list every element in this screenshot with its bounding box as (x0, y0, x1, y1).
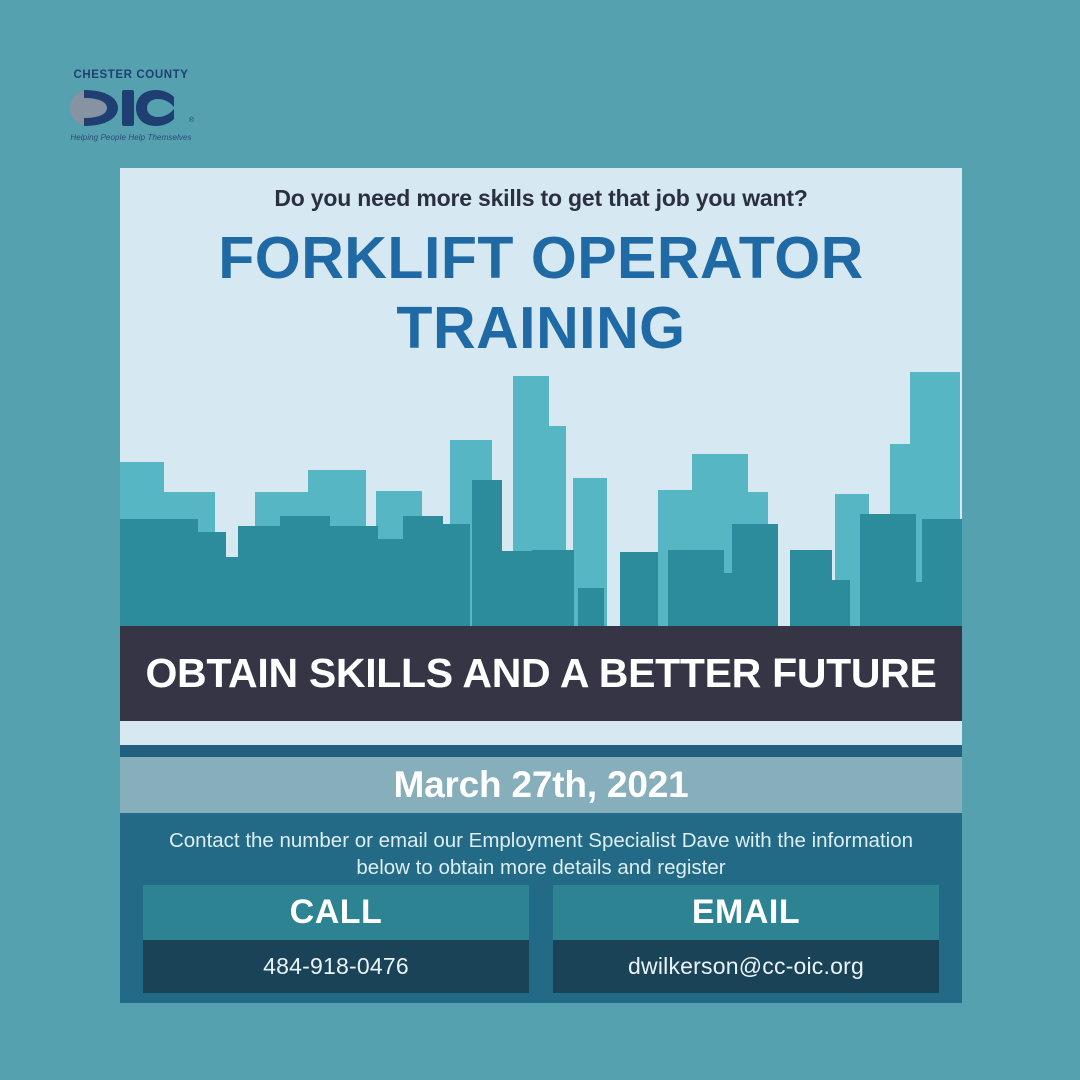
city-skyline-illustration (120, 364, 962, 626)
email-address[interactable]: dwilkerson@cc-oic.org (553, 940, 939, 993)
email-card-label: EMAIL (553, 885, 939, 940)
oic-logo: CHESTER COUNTY ® Helping People Help The… (66, 70, 196, 148)
banner-text: OBTAIN SKILLS AND A BETTER FUTURE (120, 626, 962, 721)
call-card[interactable]: CALL 484-918-0476 (143, 885, 529, 993)
logo-mark: ® (66, 84, 196, 132)
contact-cards: CALL 484-918-0476 EMAIL dwilkerson@cc-oi… (143, 885, 939, 993)
skyline-front-building (578, 588, 604, 626)
banner-strip: OBTAIN SKILLS AND A BETTER FUTURE (120, 626, 962, 721)
skyline-front-building (532, 550, 574, 626)
contact-instructions: Contact the number or email our Employme… (146, 827, 936, 881)
skyline-front-building (620, 552, 658, 626)
skyline-front-building (368, 539, 408, 626)
skyline-front-building (812, 580, 850, 626)
skyline-front-building (495, 551, 535, 626)
flyer-poster: Do you need more skills to get that job … (120, 168, 962, 1003)
event-date: March 27th, 2021 (393, 764, 688, 806)
kicker-text: Do you need more skills to get that job … (120, 185, 962, 212)
skyline-front-building (922, 519, 962, 626)
contact-section: Contact the number or email our Employme… (120, 813, 962, 1003)
registered-trademark-icon: ® (189, 117, 194, 124)
headline-section: Do you need more skills to get that job … (120, 168, 962, 368)
page-title: FORKLIFT OPERATOR TRAINING (120, 224, 962, 363)
skyline-front-building (403, 516, 443, 626)
email-card[interactable]: EMAIL dwilkerson@cc-oic.org (553, 885, 939, 993)
skyline-front-building (668, 550, 724, 626)
call-card-label: CALL (143, 885, 529, 940)
skyline-front-building (732, 524, 778, 626)
logo-tagline: Helping People Help Themselves (66, 133, 196, 142)
skyline-front-building (280, 516, 330, 626)
title-line-2: TRAINING (120, 294, 962, 364)
logo-org-name: CHESTER COUNTY (66, 70, 196, 82)
logo-oic-glyph (66, 84, 196, 132)
title-line-1: FORKLIFT OPERATOR (120, 224, 962, 294)
divider-stripe-dark (120, 745, 962, 757)
date-band: March 27th, 2021 (120, 757, 962, 813)
contact-instructions-line-2: below to obtain more details and registe… (146, 854, 936, 881)
contact-instructions-line-1: Contact the number or email our Employme… (146, 827, 936, 854)
skyline-front-building (438, 524, 470, 626)
divider-stripe-light (120, 721, 962, 745)
phone-number[interactable]: 484-918-0476 (143, 940, 529, 993)
